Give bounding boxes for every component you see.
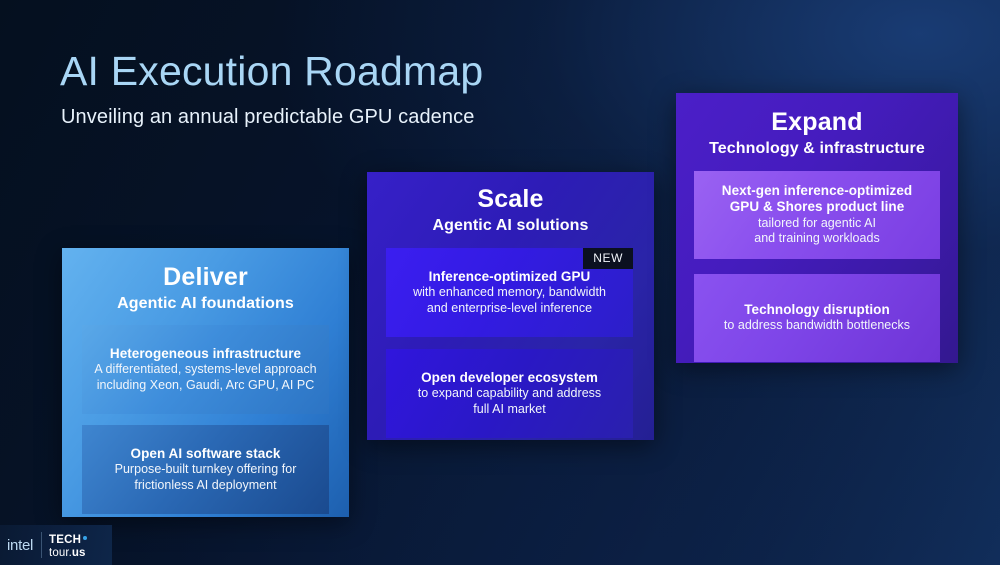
tech-tour-dot-icon (83, 536, 87, 540)
stage-name-expand: Expand (676, 109, 958, 137)
panel-body-line-1: to address bandwidth bottlenecks (724, 318, 910, 334)
stage-header-deliver: Deliver Agentic AI foundations (62, 248, 349, 314)
tech-tour-line-1: TECH (49, 535, 81, 547)
slide-canvas: AI Execution Roadmap Unveiling an annual… (0, 0, 1000, 565)
stage-header-expand: Expand Technology & infrastructure (676, 93, 958, 159)
stage-card-expand[interactable]: Expand Technology & infrastructure Next-… (676, 93, 958, 363)
panel-body-line-1: Purpose-built turnkey offering for (115, 462, 297, 478)
tech-tour-logo: TECH tour.us (42, 531, 87, 560)
stage-tagline-deliver: Agentic AI foundations (62, 294, 349, 314)
panel-open-ai-software-stack[interactable]: Open AI software stack Purpose-built tur… (82, 425, 329, 514)
tech-tour-line-2: tour. (49, 547, 72, 559)
panel-title-line-1: Next-gen inference-optimized (722, 183, 912, 199)
page-title: AI Execution Roadmap (60, 48, 483, 95)
panel-technology-disruption[interactable]: Technology disruption to address bandwid… (694, 274, 940, 362)
panel-title: Technology disruption (744, 302, 890, 318)
panel-body-line-1: with enhanced memory, bandwidth (413, 285, 606, 301)
panel-body-line-2: and training workloads (754, 231, 880, 247)
stage-name-scale: Scale (367, 186, 654, 214)
stage-card-scale[interactable]: Scale Agentic AI solutions NEW Inference… (367, 172, 654, 440)
panel-heterogeneous-infrastructure[interactable]: Heterogeneous infrastructure A different… (82, 325, 329, 414)
page-subtitle: Unveiling an annual predictable GPU cade… (61, 106, 474, 129)
panel-title: Heterogeneous infrastructure (110, 346, 301, 362)
panel-open-developer-ecosystem[interactable]: Open developer ecosystem to expand capab… (386, 349, 633, 438)
tech-tour-line-2-wrap: tour.us (49, 548, 87, 560)
panel-body-line-2: and enterprise-level inference (427, 301, 592, 317)
stage-header-scale: Scale Agentic AI solutions (367, 172, 654, 236)
stage-name-deliver: Deliver (62, 264, 349, 292)
intel-logo: intel (0, 537, 41, 554)
panel-title-line-2: GPU & Shores product line (730, 199, 905, 215)
panel-title: Open developer ecosystem (421, 370, 598, 386)
stage-card-deliver[interactable]: Deliver Agentic AI foundations Heterogen… (62, 248, 349, 517)
footer-logo-bar: intel TECH tour.us (0, 525, 112, 565)
tech-tour-line-1-wrap: TECH (49, 531, 87, 547)
panel-title: Inference-optimized GPU (429, 269, 591, 285)
panel-next-gen-gpu[interactable]: Next-gen inference-optimized GPU & Shore… (694, 171, 940, 259)
stage-tagline-expand: Technology & infrastructure (676, 139, 958, 159)
panel-title: Open AI software stack (131, 446, 281, 462)
panel-body-line-1: tailored for agentic AI (758, 216, 876, 232)
stage-tagline-scale: Agentic AI solutions (367, 216, 654, 236)
panel-body-line-2: frictionless AI deployment (134, 478, 276, 494)
panel-body-line-1: A differentiated, systems-level approach (94, 362, 316, 378)
panel-body-line-1: to expand capability and address (418, 386, 601, 402)
panel-body-line-2: including Xeon, Gaudi, Arc GPU, AI PC (97, 378, 315, 394)
new-badge: NEW (583, 248, 633, 269)
panel-inference-optimized-gpu[interactable]: NEW Inference-optimized GPU with enhance… (386, 248, 633, 337)
tech-tour-suffix: us (72, 547, 86, 559)
panel-body-line-2: full AI market (473, 402, 546, 418)
